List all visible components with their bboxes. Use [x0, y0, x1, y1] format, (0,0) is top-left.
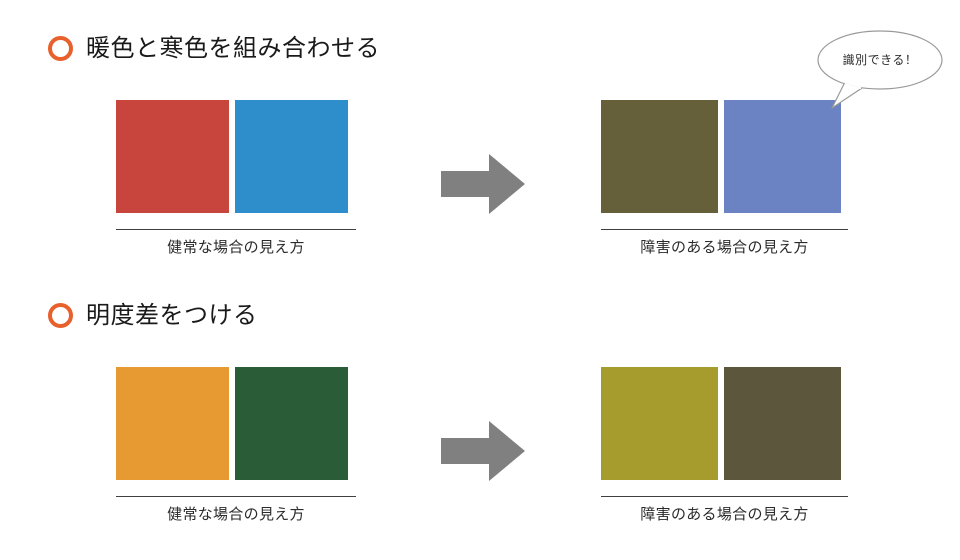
section-1-impaired-swatch-a [601, 100, 718, 213]
section-1-impaired-caption: 障害のある場合の見え方 [601, 239, 848, 257]
section-2-impaired-swatch-b [724, 367, 841, 480]
section-1-normal-panel: 健常な場合の見え方 [116, 100, 356, 257]
section-2-normal-caption: 健常な場合の見え方 [116, 506, 356, 524]
section-1-normal-swatches [116, 100, 356, 213]
circle-outline-icon [48, 303, 73, 328]
section-1-normal-swatch-a [116, 100, 229, 213]
section-1-impaired-caption-rule [601, 229, 848, 230]
callout-bubble-text: 識別できる！ [816, 54, 944, 66]
section-2-impaired-caption: 障害のある場合の見え方 [601, 506, 848, 524]
section-1-heading: 暖色と寒色を組み合わせる [48, 36, 380, 61]
section-2-normal-swatch-a [116, 367, 229, 480]
section-1-impaired-swatches [601, 100, 848, 213]
section-2-impaired-caption-rule [601, 496, 848, 497]
section-2-normal-swatch-b [235, 367, 348, 480]
callout-bubble: 識別できる！ [816, 28, 944, 110]
section-1-normal-caption-rule [116, 229, 356, 230]
section-2-impaired-swatch-a [601, 367, 718, 480]
section-1-normal-swatch-b [235, 100, 348, 213]
section-1-arrow-right-icon [441, 154, 525, 214]
section-2-normal-caption-rule [116, 496, 356, 497]
section-1-impaired-swatch-b [724, 100, 841, 213]
section-2-impaired-swatches [601, 367, 848, 480]
section-2-heading-label: 明度差をつける [86, 304, 258, 328]
section-2-normal-panel: 健常な場合の見え方 [116, 367, 356, 524]
section-2-heading: 明度差をつける [48, 303, 258, 328]
section-2-normal-swatches [116, 367, 356, 480]
slide-canvas: 暖色と寒色を組み合わせる 健常な場合の見え方 障害のある場合の見え方 [0, 0, 960, 560]
section-2-impaired-panel: 障害のある場合の見え方 [601, 367, 848, 524]
section-1-normal-caption: 健常な場合の見え方 [116, 239, 356, 257]
section-2-arrow-right-icon [441, 421, 525, 481]
circle-outline-icon [48, 36, 73, 61]
section-1-impaired-panel: 障害のある場合の見え方 [601, 100, 848, 257]
speech-bubble-icon [816, 28, 944, 110]
section-1-heading-label: 暖色と寒色を組み合わせる [86, 37, 380, 61]
